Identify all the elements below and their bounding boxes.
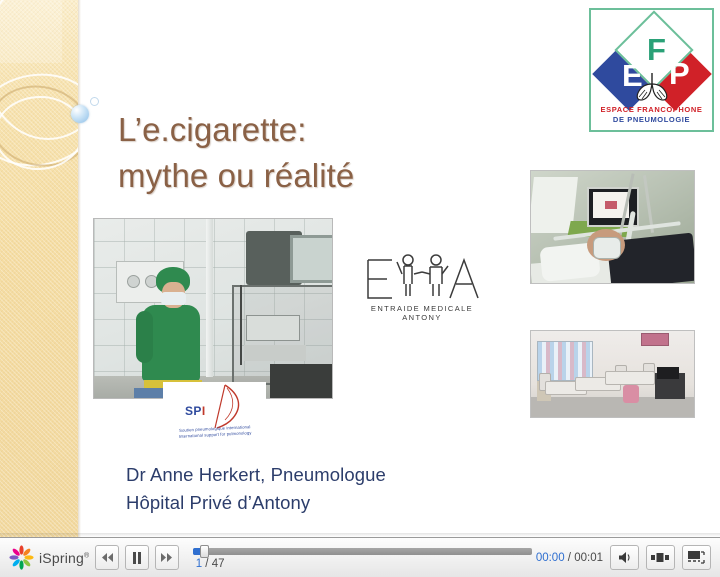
ispring-brand-text: iSpring [39, 550, 84, 566]
lungs-icon [623, 72, 681, 102]
or-clinician-arm [136, 311, 153, 363]
slide-title-line-2: mythe ou réalité [118, 153, 518, 199]
room-monitor [657, 367, 679, 379]
room-pink-chair [623, 385, 639, 403]
next-slide-button[interactable] [155, 545, 179, 570]
ispring-brand: iSpring® [9, 545, 89, 570]
ema-logo: ENTRAIDE MEDICALE ANTONY [360, 252, 484, 324]
hospital-room-photo [530, 330, 695, 418]
author-line-1: Dr Anne Herkert, Pneumologue [126, 461, 546, 489]
patient-in-bed-photo [530, 170, 695, 284]
volume-button[interactable] [610, 545, 639, 570]
layout-button[interactable] [646, 545, 675, 570]
spi-acronym-i: I [202, 404, 206, 418]
or-device-1 [246, 315, 300, 341]
player-right-buttons [603, 545, 711, 570]
decorative-bubble-large-icon [71, 105, 89, 123]
slide-counter-current: 1 [196, 558, 202, 570]
efp-caption-line-2: DE PNEUMOLOGIE [591, 115, 712, 125]
spi-logo: SPI Soutien pneumologique international … [163, 382, 266, 446]
patient-photo-ventilation-mask [593, 237, 621, 259]
or-knob-1 [127, 275, 140, 288]
fast-forward-icon [160, 552, 173, 563]
rewind-icon [101, 552, 114, 563]
slide-title-line-1: L’e.cigarette: [118, 107, 518, 153]
decorative-ring-low-icon [0, 93, 78, 173]
room-floor [531, 397, 694, 417]
ispring-trademark: ® [84, 552, 89, 559]
player-toolbar: iSpring® 1 / 47 00:00 / 00:01 [0, 537, 720, 577]
ema-caption: ENTRAIDE MEDICALE ANTONY [360, 304, 484, 322]
patient-photo-screen-content [605, 201, 617, 209]
previous-slide-button[interactable] [95, 545, 119, 570]
or-dark-drape [270, 364, 333, 398]
speaker-icon [617, 551, 632, 564]
slide-counter-total: 47 [212, 558, 225, 570]
time-separator: / [568, 552, 571, 564]
author-line-2: Hôpital Privé d’Antony [126, 489, 546, 517]
room-wall-picture [641, 333, 669, 346]
slide-counter-separator: / [205, 558, 208, 570]
slide-author-block: Dr Anne Herkert, Pneumologue Hôpital Pri… [126, 461, 546, 517]
or-device-2 [244, 345, 306, 361]
efp-caption-line-1: ESPACE FRANCOPHONE [591, 105, 712, 115]
slide-title: L’e.cigarette: mythe ou réalité [118, 107, 518, 198]
time-total: 00:01 [574, 552, 603, 564]
slide-decoration-band [0, 0, 78, 537]
seek-handle[interactable] [200, 545, 209, 558]
efp-logo: F E P ESPACE FRANCOPHONE DE PNEUMOLOGIE [589, 8, 714, 132]
decorative-bubble-small-icon [90, 97, 99, 106]
seek-track[interactable] [193, 548, 532, 555]
slide-counter: 1 / 47 [196, 558, 225, 570]
spi-acronym-sp: SP [185, 404, 202, 418]
slide-canvas: L’e.cigarette: mythe ou réalité [0, 0, 720, 537]
or-clinician-mask [161, 292, 186, 305]
efp-caption: ESPACE FRANCOPHONE DE PNEUMOLOGIE [591, 105, 712, 125]
or-column [206, 219, 213, 377]
pause-button[interactable] [125, 545, 149, 570]
or-monitor-screen [290, 235, 333, 283]
ispring-logo-icon [9, 545, 34, 570]
fullscreen-button[interactable] [682, 545, 711, 570]
seek-bar[interactable]: 1 / 47 [193, 544, 532, 572]
time-display: 00:00 / 00:01 [536, 552, 603, 564]
operating-room-photo [93, 218, 333, 399]
pause-icon [132, 552, 142, 564]
room-bed-3 [605, 371, 655, 385]
or-cables [240, 285, 242, 365]
layout-icon [651, 553, 670, 562]
band-edge-shadow [78, 0, 81, 537]
efp-letter-f: F [647, 32, 666, 68]
ema-mark-icon [360, 252, 484, 304]
spi-acronym: SPI [185, 404, 206, 418]
ispring-brand-name: iSpring® [39, 550, 89, 566]
time-current: 00:00 [536, 552, 565, 564]
fullscreen-icon [688, 551, 705, 565]
